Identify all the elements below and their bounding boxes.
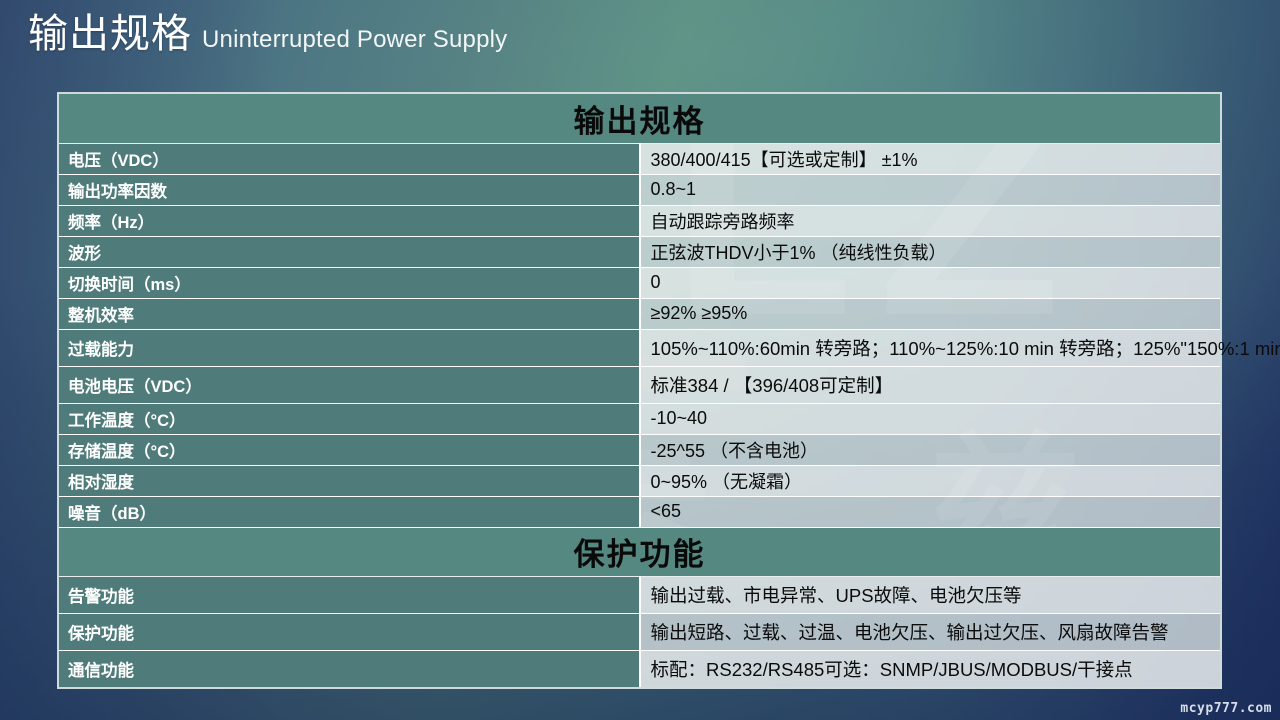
page-subtitle: Uninterrupted Power Supply [202,28,507,52]
slide-canvas: L KLZ 卡兹 输出规格 Uninterrupted Power Supply… [0,0,1280,720]
row-label: 过载能力 [59,329,640,366]
row-value: 0.8~1 [640,174,1221,205]
row-value: 380/400/415【可选或定制】 ±1% [640,143,1221,174]
row-value: -25^55 （不含电池） [640,434,1221,465]
row-value: 输出短路、过载、过温、电池欠压、输出过欠压、风扇故障告警 [640,613,1221,650]
row-label: 相对湿度 [59,465,640,496]
table-row: 工作温度（°C） -10~40 [59,403,1220,434]
table-row: 存储温度（°C） -25^55 （不含电池） [59,434,1220,465]
table-row: 输出功率因数 0.8~1 [59,174,1220,205]
row-label: 存储温度（°C） [59,434,640,465]
spec-table: 输出规格 电压（VDC） 380/400/415【可选或定制】 ±1% 输出功率… [59,94,1220,687]
row-label: 整机效率 [59,298,640,329]
row-label: 告警功能 [59,576,640,613]
table-row: 保护功能 输出短路、过载、过温、电池欠压、输出过欠压、风扇故障告警 [59,613,1220,650]
table-row: 电压（VDC） 380/400/415【可选或定制】 ±1% [59,143,1220,174]
row-value: 输出过载、市电异常、UPS故障、电池欠压等 [640,576,1221,613]
row-value: -10~40 [640,403,1221,434]
row-value: ≥92% ≥95% [640,298,1221,329]
row-label: 工作温度（°C） [59,403,640,434]
row-label: 电池电压（VDC） [59,366,640,403]
row-label: 输出功率因数 [59,174,640,205]
row-label: 通信功能 [59,650,640,687]
table-row: 过载能力 105%~110%:60min 转旁路；110%~125%:10 mi… [59,329,1220,366]
table-row: 电池电压（VDC） 标准384 / 【396/408可定制】 [59,366,1220,403]
row-value: 自动跟踪旁路频率 [640,205,1221,236]
table-row: 频率（Hz） 自动跟踪旁路频率 [59,205,1220,236]
row-value: <65 [640,496,1221,527]
row-value: 0~95% （无凝霜） [640,465,1221,496]
site-watermark: mcyp777.com [1180,701,1272,716]
row-value: 0 [640,267,1221,298]
slide-title: 输出规格 Uninterrupted Power Supply [28,14,507,54]
row-value: 正弦波THDV小于1% （纯线性负载） [640,236,1221,267]
table-row: 通信功能 标配：RS232/RS485可选：SNMP/JBUS/MODBUS/干… [59,650,1220,687]
section-header-output: 输出规格 [59,94,1220,143]
row-label: 电压（VDC） [59,143,640,174]
row-value: 标准384 / 【396/408可定制】 [640,366,1221,403]
spec-table-container: 输出规格 电压（VDC） 380/400/415【可选或定制】 ±1% 输出功率… [57,92,1222,689]
table-row: 噪音（dB） <65 [59,496,1220,527]
table-row: 波形 正弦波THDV小于1% （纯线性负载） [59,236,1220,267]
row-label: 保护功能 [59,613,640,650]
table-row: 整机效率 ≥92% ≥95% [59,298,1220,329]
section-header-label: 保护功能 [59,527,1220,576]
row-value: 105%~110%:60min 转旁路；110%~125%:10 min 转旁路… [640,329,1221,366]
table-row: 切换时间（ms） 0 [59,267,1220,298]
row-label: 切换时间（ms） [59,267,640,298]
row-value: 标配：RS232/RS485可选：SNMP/JBUS/MODBUS/干接点 [640,650,1221,687]
row-label: 波形 [59,236,640,267]
row-label: 噪音（dB） [59,496,640,527]
page-title: 输出规格 [28,14,192,54]
table-row: 相对湿度 0~95% （无凝霜） [59,465,1220,496]
section-header-label: 输出规格 [59,94,1220,143]
section-header-protection: 保护功能 [59,527,1220,576]
row-label: 频率（Hz） [59,205,640,236]
table-row: 告警功能 输出过载、市电异常、UPS故障、电池欠压等 [59,576,1220,613]
